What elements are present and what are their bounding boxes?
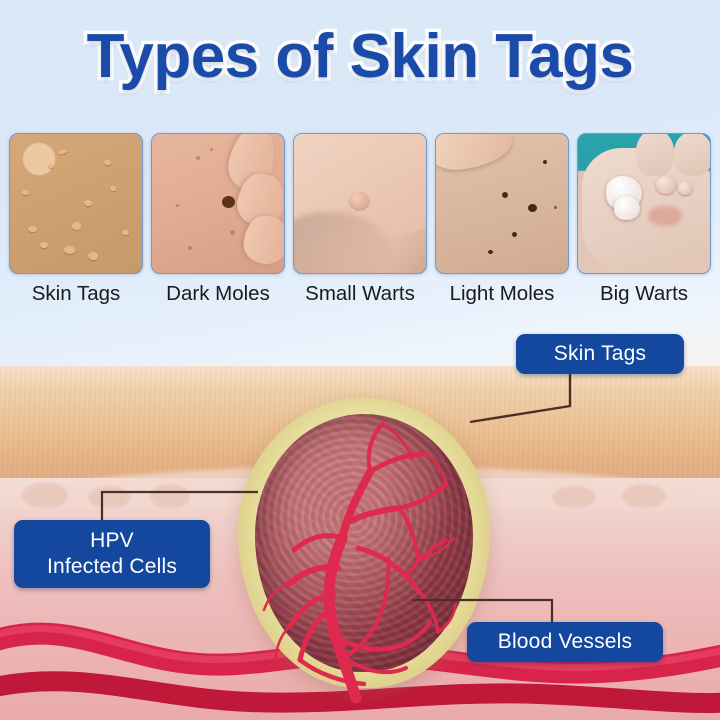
thumbnail-card-big-warts[interactable]: Big Warts (577, 133, 711, 311)
thumbnail-label: Skin Tags (32, 282, 121, 306)
page-title-wrap: Types of Skin Tags (0, 24, 720, 89)
thumbnail-strip: Skin Tags Dark Moles (9, 133, 711, 311)
dark-moles-photo (151, 133, 285, 274)
infographic-poster: Types of Skin Tags (0, 0, 720, 720)
growth-mass (238, 398, 490, 688)
thumbnail-label: Small Warts (305, 282, 415, 306)
skin-tags-photo (9, 133, 143, 274)
thumbnail-label: Big Warts (600, 282, 688, 306)
page-title: Types of Skin Tags (87, 24, 634, 89)
light-moles-photo (435, 133, 569, 274)
big-warts-photo (577, 133, 711, 274)
mass-blood-vessels (238, 398, 490, 688)
small-warts-photo (293, 133, 427, 274)
thumbnail-label: Light Moles (450, 282, 555, 306)
callout-badge-skin-tags[interactable]: Skin Tags (516, 334, 684, 374)
thumbnail-card-skin-tags[interactable]: Skin Tags (9, 133, 143, 311)
thumbnail-card-light-moles[interactable]: Light Moles (435, 133, 569, 311)
leader-line-skin-tags (466, 366, 686, 436)
callout-badge-blood-vessels[interactable]: Blood Vessels (467, 622, 663, 662)
callout-label-line2: Infected Cells (47, 554, 177, 580)
thumbnail-card-dark-moles[interactable]: Dark Moles (151, 133, 285, 311)
thumbnail-card-small-warts[interactable]: Small Warts (293, 133, 427, 311)
callout-label-line1: HPV (47, 528, 177, 554)
header-section: Types of Skin Tags (0, 0, 720, 372)
callout-badge-hpv-infected-cells[interactable]: HPV Infected Cells (14, 520, 210, 588)
callout-label: Skin Tags (554, 342, 646, 367)
callout-label: Blood Vessels (498, 630, 633, 655)
thumbnail-label: Dark Moles (166, 282, 270, 306)
